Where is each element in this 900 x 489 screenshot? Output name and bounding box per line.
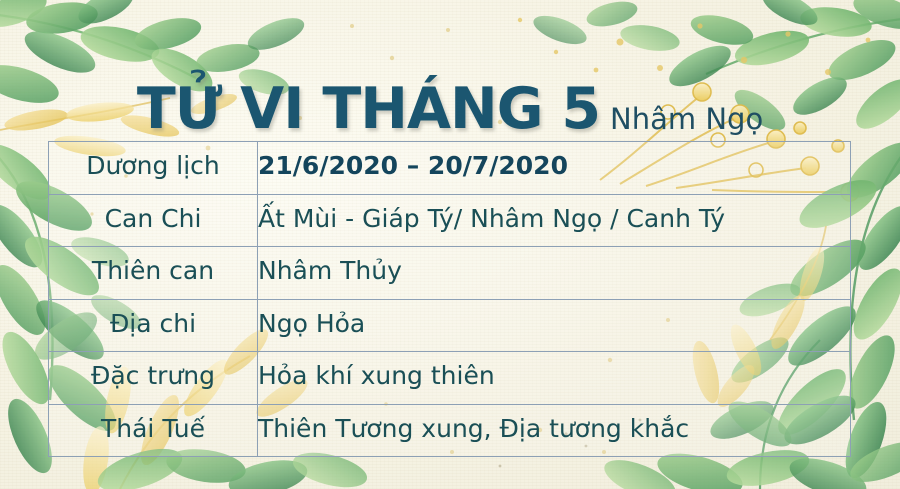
table-body: Dương lịch 21/6/2020 – 20/7/2020 Can Chi… — [49, 142, 851, 457]
row-label-thai-tue: Thái Tuế — [49, 404, 258, 457]
table-row: Thiên can Nhâm Thủy — [49, 247, 851, 300]
table-row: Đặc trưng Hỏa khí xung thiên — [49, 352, 851, 405]
row-value-thai-tue: Thiên Tương xung, Địa tương khắc — [258, 404, 851, 457]
horoscope-table-container: Dương lịch 21/6/2020 – 20/7/2020 Can Chi… — [48, 141, 848, 457]
row-value-thien-can: Nhâm Thủy — [258, 247, 851, 300]
row-value-duong-lich: 21/6/2020 – 20/7/2020 — [258, 142, 851, 195]
table-row: Dương lịch 21/6/2020 – 20/7/2020 — [49, 142, 851, 195]
page-title: TỬ VI THÁNG 5 — [137, 81, 600, 138]
row-value-can-chi: Ất Mùi - Giáp Tý/ Nhâm Ngọ / Canh Tý — [258, 194, 851, 247]
row-value-dac-trung: Hỏa khí xung thiên — [258, 352, 851, 405]
row-label-duong-lich: Dương lịch — [49, 142, 258, 195]
poster-header: TỬ VI THÁNG 5 Nhâm Ngọ — [0, 58, 900, 138]
table-row: Can Chi Ất Mùi - Giáp Tý/ Nhâm Ngọ / Can… — [49, 194, 851, 247]
table-row: Địa chi Ngọ Hỏa — [49, 299, 851, 352]
horoscope-poster: TỬ VI THÁNG 5 Nhâm Ngọ Dương lịch 21/6/2… — [0, 0, 900, 489]
row-label-dia-chi: Địa chi — [49, 299, 258, 352]
row-label-dac-trung: Đặc trưng — [49, 352, 258, 405]
row-value-dia-chi: Ngọ Hỏa — [258, 299, 851, 352]
page-subtitle: Nhâm Ngọ — [610, 105, 763, 138]
table-row: Thái Tuế Thiên Tương xung, Địa tương khắ… — [49, 404, 851, 457]
row-label-thien-can: Thiên can — [49, 247, 258, 300]
horoscope-info-table: Dương lịch 21/6/2020 – 20/7/2020 Can Chi… — [48, 141, 851, 457]
row-label-can-chi: Can Chi — [49, 194, 258, 247]
